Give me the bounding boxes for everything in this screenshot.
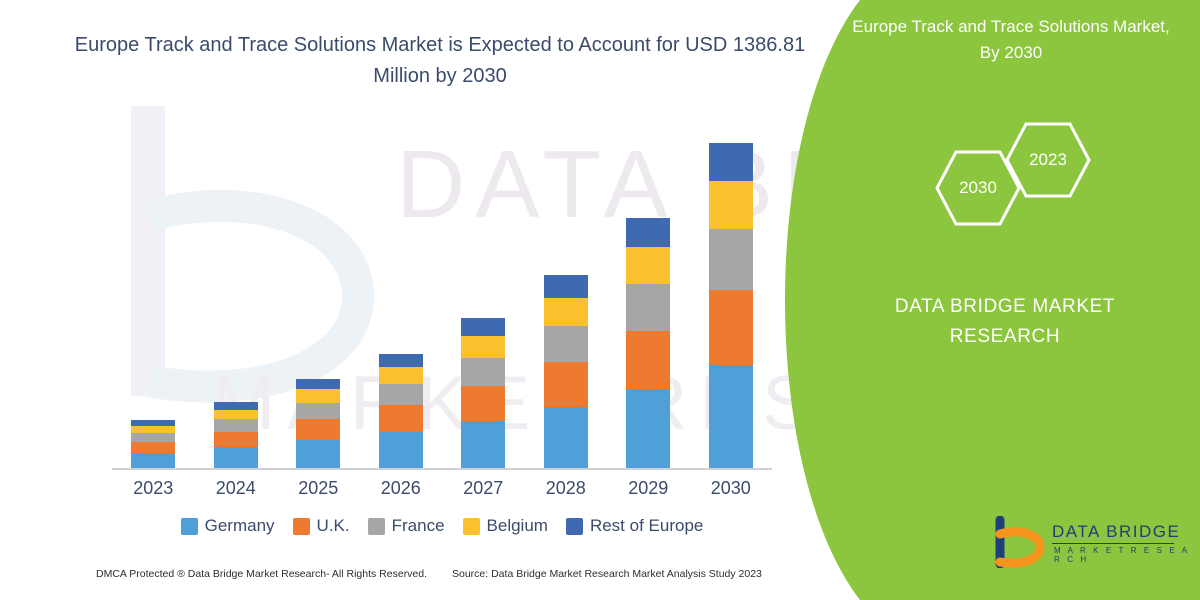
page-title: Europe Track and Trace Solutions Market … xyxy=(60,30,820,92)
legend-label: Germany xyxy=(205,516,275,536)
bar-segment xyxy=(709,181,753,229)
bar-segment xyxy=(544,298,588,327)
bar-segment xyxy=(544,362,588,407)
bar-segment xyxy=(544,275,588,297)
bar-group xyxy=(461,318,505,468)
bar-segment xyxy=(296,403,340,420)
hexagon-2030-label: 2030 xyxy=(959,178,997,198)
bar-group xyxy=(214,402,258,468)
bar-segment xyxy=(709,229,753,290)
bar-group xyxy=(544,275,588,468)
bar-chart-plot xyxy=(112,120,772,468)
brand-b-icon xyxy=(990,516,1046,568)
brand-logo: DATA BRIDGE M A R K E T R E S E A R C H xyxy=(990,516,1190,574)
x-axis-tick-label: 2029 xyxy=(608,478,688,499)
bar-group xyxy=(626,218,670,468)
bar-segment xyxy=(544,407,588,468)
x-axis-labels: 20232024202520262027202820292030 xyxy=(112,478,772,506)
legend-swatch xyxy=(368,518,385,535)
bar-segment xyxy=(626,218,670,247)
bar-segment xyxy=(709,143,753,181)
bar-segment xyxy=(461,358,505,386)
x-axis-tick-label: 2024 xyxy=(196,478,276,499)
legend-label: U.K. xyxy=(317,516,350,536)
hexagon-2023: 2023 xyxy=(1005,122,1091,198)
legend-item[interactable]: Rest of Europe xyxy=(566,516,703,536)
legend-label: France xyxy=(392,516,445,536)
legend-item[interactable]: Germany xyxy=(181,516,275,536)
legend-swatch xyxy=(293,518,310,535)
bar-segment xyxy=(461,386,505,421)
brand-name: DATA BRIDGE xyxy=(1052,522,1180,542)
legend-swatch xyxy=(566,518,583,535)
x-axis-tick-label: 2027 xyxy=(443,478,523,499)
bar-segment xyxy=(296,419,340,440)
panel-brand: DATA BRIDGE MARKET RESEARCH xyxy=(820,292,1190,352)
bar-segment xyxy=(709,365,753,468)
x-axis-tick-label: 2026 xyxy=(361,478,441,499)
x-axis-tick-label: 2028 xyxy=(526,478,606,499)
bar-segment xyxy=(131,442,175,453)
legend-swatch xyxy=(181,518,198,535)
legend-label: Belgium xyxy=(487,516,548,536)
bar-segment xyxy=(214,402,258,410)
bar-segment xyxy=(626,284,670,331)
panel-brand-line2: RESEARCH xyxy=(820,322,1190,352)
bar-segment xyxy=(214,432,258,447)
legend-item[interactable]: Belgium xyxy=(463,516,548,536)
panel-brand-line1: DATA BRIDGE MARKET xyxy=(820,292,1190,322)
chart-legend: GermanyU.K.FranceBelgiumRest of Europe xyxy=(112,512,772,540)
footer-copyright: DMCA Protected ® Data Bridge Market Rese… xyxy=(96,568,427,580)
bar-segment xyxy=(379,405,423,431)
bar-segment xyxy=(214,419,258,432)
footer-source: Source: Data Bridge Market Research Mark… xyxy=(452,568,762,580)
legend-item[interactable]: U.K. xyxy=(293,516,350,536)
bar-segment xyxy=(379,354,423,367)
bar-group xyxy=(296,379,340,468)
bar-group xyxy=(131,420,175,468)
brand-divider xyxy=(1052,543,1174,544)
bar-segment xyxy=(296,379,340,389)
bar-segment xyxy=(626,247,670,284)
legend-swatch xyxy=(463,518,480,535)
bar-segment xyxy=(214,447,258,468)
x-axis-tick-label: 2025 xyxy=(278,478,358,499)
panel-title: Europe Track and Trace Solutions Market,… xyxy=(846,14,1176,66)
brand-subtitle: M A R K E T R E S E A R C H xyxy=(1054,546,1190,564)
bar-segment xyxy=(131,433,175,442)
bar-segment xyxy=(626,331,670,389)
bar-segment xyxy=(379,432,423,468)
bar-segment xyxy=(461,421,505,468)
bar-segment xyxy=(131,426,175,433)
footer: DMCA Protected ® Data Bridge Market Rese… xyxy=(0,562,800,592)
bar-segment xyxy=(544,326,588,362)
bar-segment xyxy=(214,410,258,420)
legend-item[interactable]: France xyxy=(368,516,445,536)
bar-segment xyxy=(709,290,753,365)
bar-group xyxy=(709,143,753,468)
bar-segment xyxy=(296,440,340,468)
bar-segment xyxy=(626,389,670,468)
bar-segment xyxy=(296,389,340,402)
bar-segment xyxy=(131,453,175,468)
x-axis-tick-label: 2030 xyxy=(691,478,771,499)
legend-label: Rest of Europe xyxy=(590,516,703,536)
bar-segment xyxy=(379,384,423,406)
bar-segment xyxy=(461,318,505,335)
x-axis-line xyxy=(112,468,772,470)
bar-segment xyxy=(379,367,423,384)
bar-segment xyxy=(461,336,505,358)
x-axis-tick-label: 2023 xyxy=(113,478,193,499)
hexagon-2023-label: 2023 xyxy=(1029,150,1067,170)
bar-group xyxy=(379,354,423,468)
